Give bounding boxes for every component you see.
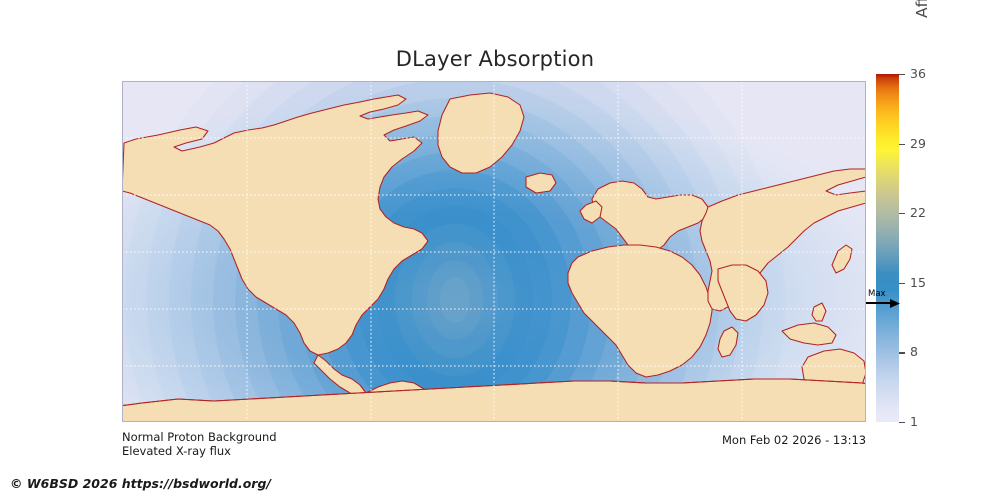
- colorbar-tick-22: 22: [899, 213, 959, 214]
- copyright-notice: © W6BSD 2026 https://bsdworld.org/: [10, 476, 271, 491]
- colorbar-tick-label: 8: [910, 343, 918, 360]
- colorbar-tick-label: 1: [910, 413, 918, 430]
- colorbar-tick-dash: [899, 422, 905, 423]
- colorbar-axis-label: Affected Frequency (MHz): [913, 0, 939, 96]
- colorbar-tick-dash: [899, 283, 905, 284]
- colorbar-tick-15: 15: [899, 283, 959, 284]
- dlayer-absorption-figure: DLayer Absorption: [0, 0, 1000, 500]
- colorbar-tick-list: 3629221581: [899, 74, 959, 422]
- colorbar[interactable]: [876, 74, 899, 422]
- page-title: DLayer Absorption: [0, 47, 990, 71]
- colorbar-tick-label: 29: [910, 135, 926, 152]
- colorbar-gradient: [876, 74, 899, 422]
- colorbar-tick-label: 22: [910, 204, 926, 221]
- colorbar-tick-dash: [899, 144, 905, 145]
- colorbar-tick-dash: [899, 74, 905, 75]
- colorbar-tick-dash: [899, 213, 905, 214]
- colorbar-tick-8: 8: [899, 352, 959, 353]
- colorbar-tick-29: 29: [899, 144, 959, 145]
- colorbar-tick-label: 15: [910, 274, 926, 291]
- timestamp: Mon Feb 02 2026 - 13:13: [722, 433, 866, 447]
- note-proton-background: Normal Proton Background: [122, 430, 277, 444]
- note-xray-flux: Elevated X-ray flux: [122, 444, 231, 458]
- colorbar-tick-1: 1: [899, 422, 959, 423]
- colorbar-tick-dash: [899, 352, 905, 353]
- world-map-plot[interactable]: [122, 81, 866, 422]
- map-canvas: [122, 81, 866, 422]
